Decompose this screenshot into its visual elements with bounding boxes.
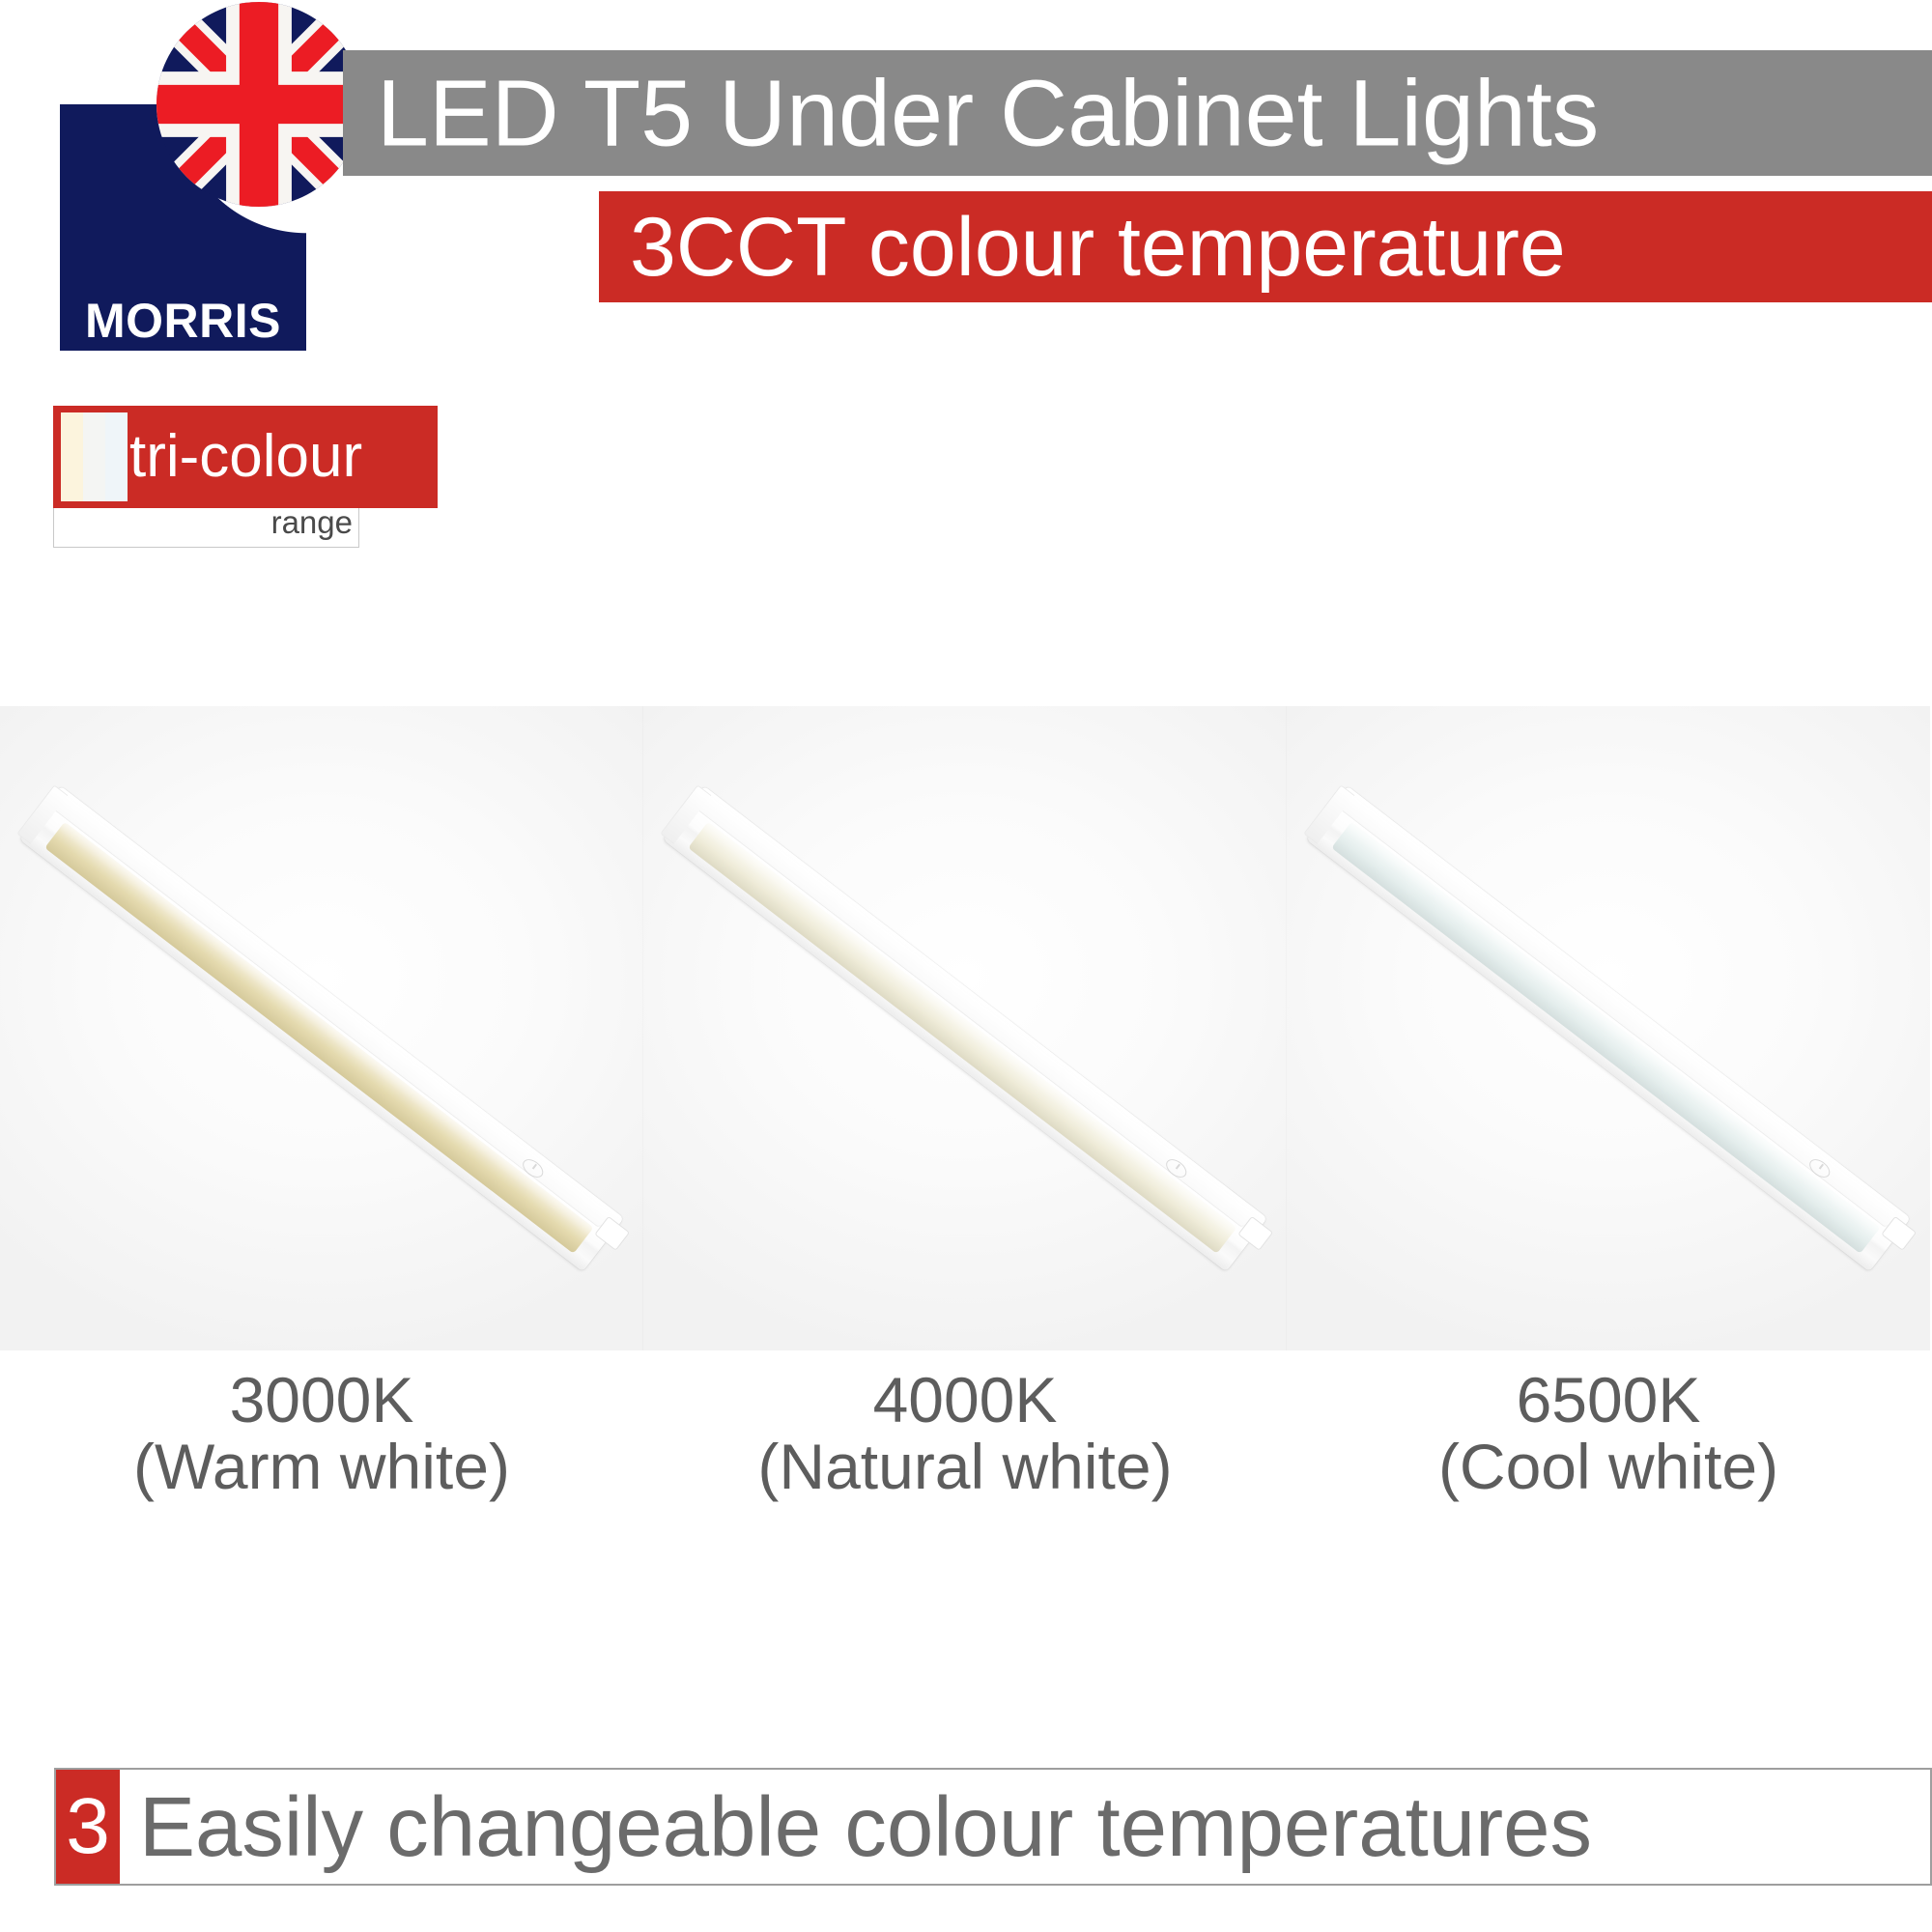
product-panel-6500k bbox=[1287, 706, 1930, 1350]
colour-temperature-captions: 3000K (Warm white) 4000K (Natural white)… bbox=[0, 1368, 1932, 1551]
feature-text: Easily changeable colour temperatures bbox=[120, 1770, 1930, 1884]
kelvin-descriptor: (Cool white) bbox=[1287, 1432, 1930, 1503]
feature-banner: 3 Easily changeable colour temperatures bbox=[54, 1768, 1932, 1886]
product-panel-4000k bbox=[643, 706, 1287, 1350]
kelvin-value: 6500K bbox=[1287, 1368, 1930, 1432]
kelvin-value: 4000K bbox=[643, 1368, 1287, 1432]
tri-colour-swatch-strip bbox=[61, 412, 128, 501]
swatch-warm bbox=[61, 412, 83, 501]
swatch-natural bbox=[83, 412, 105, 501]
led-strip-light-icon bbox=[663, 785, 1267, 1271]
tri-colour-range-badge: tri-colour range bbox=[53, 406, 447, 555]
subtitle-banner: 3CCT colour temperature bbox=[599, 191, 1932, 302]
product-panel-3000k bbox=[0, 706, 643, 1350]
title-banner: LED T5 Under Cabinet Lights bbox=[343, 50, 1932, 176]
kelvin-value: 3000K bbox=[0, 1368, 643, 1432]
lamp-tube-sheen bbox=[688, 821, 1236, 1253]
product-image-strip bbox=[0, 706, 1932, 1350]
swatch-cool bbox=[105, 412, 128, 501]
feature-number-badge: 3 bbox=[56, 1770, 120, 1884]
uk-flag-roundel-icon bbox=[156, 2, 361, 207]
morris-wordmark: MORRIS bbox=[60, 297, 306, 345]
led-strip-light-icon bbox=[1306, 785, 1911, 1271]
page-subtitle: 3CCT colour temperature bbox=[630, 206, 1913, 289]
led-strip-light-icon bbox=[19, 785, 624, 1271]
caption-6500k: 6500K (Cool white) bbox=[1287, 1368, 1930, 1551]
lamp-tube-sheen bbox=[1331, 821, 1880, 1253]
tri-colour-label: tri-colour bbox=[129, 427, 362, 487]
lamp-tube-sheen bbox=[44, 821, 593, 1253]
kelvin-descriptor: (Warm white) bbox=[0, 1432, 643, 1503]
tri-colour-range-label: range bbox=[53, 505, 353, 540]
caption-4000k: 4000K (Natural white) bbox=[643, 1368, 1287, 1551]
page-title: LED T5 Under Cabinet Lights bbox=[377, 67, 1911, 160]
kelvin-descriptor: (Natural white) bbox=[643, 1432, 1287, 1503]
caption-3000k: 3000K (Warm white) bbox=[0, 1368, 643, 1551]
